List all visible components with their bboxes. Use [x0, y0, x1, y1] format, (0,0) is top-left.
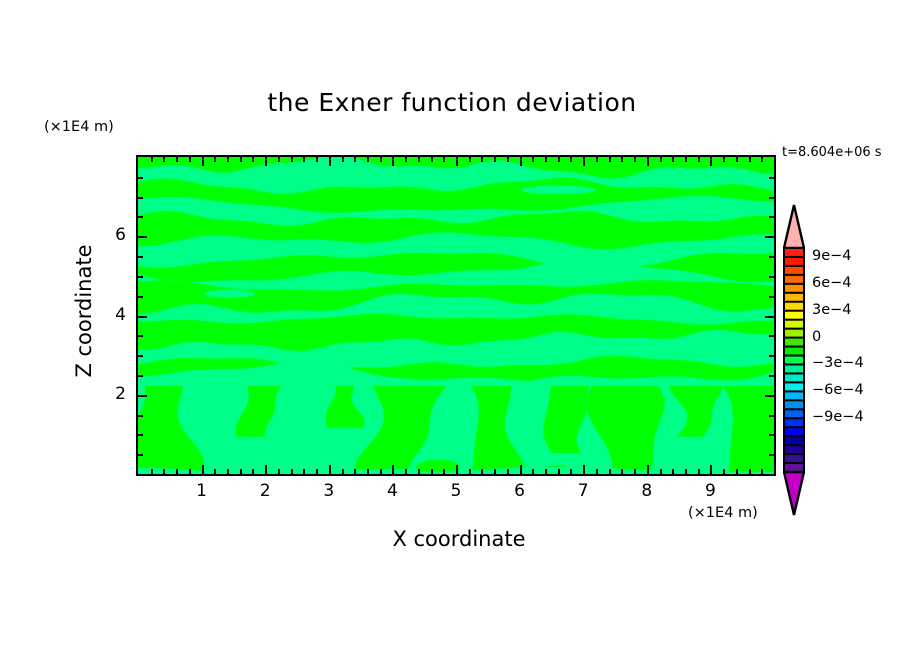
x-minor-tick-bottom [443, 469, 445, 474]
page-title: the Exner function deviation [0, 88, 904, 117]
colorbar-band [784, 302, 804, 311]
y-minor-tick-right [769, 454, 774, 456]
simulation-time-label: t=8.604e+06 s [782, 145, 882, 160]
y-minor-tick-left [138, 415, 143, 417]
x-minor-tick-top [545, 157, 547, 162]
y-axis-unit-label: (×1E4 m) [44, 119, 114, 135]
colorbar-band [784, 454, 804, 463]
x-minor-tick-top [418, 157, 420, 162]
x-minor-tick-top [570, 157, 572, 162]
x-tick-label: 8 [635, 481, 659, 501]
x-minor-tick-top [494, 157, 496, 162]
y-minor-tick-left [138, 276, 143, 278]
colorbar-over-arrow [784, 205, 804, 248]
y-minor-tick-right [769, 256, 774, 258]
colorbar-tick-label: 0 [812, 329, 821, 345]
x-minor-tick-bottom [418, 469, 420, 474]
x-minor-tick-top [532, 157, 534, 162]
x-minor-tick-top [481, 157, 483, 162]
colorbar-band [784, 275, 804, 284]
y-minor-tick-left [138, 434, 143, 436]
y-tick-label: 2 [104, 384, 126, 404]
colorbar-band [784, 248, 804, 257]
x-minor-tick-bottom [354, 469, 356, 474]
x-minor-tick-top [469, 157, 471, 162]
colorbar-band [784, 284, 804, 293]
x-major-tick-bottom [583, 465, 585, 474]
x-minor-tick-top [507, 157, 509, 162]
y-minor-tick-right [769, 216, 774, 218]
y-minor-tick-left [138, 375, 143, 377]
x-minor-tick-top [621, 157, 623, 162]
x-minor-tick-top [609, 157, 611, 162]
y-minor-tick-right [769, 375, 774, 377]
colorbar-band [784, 391, 804, 400]
x-minor-tick-bottom [736, 469, 738, 474]
y-minor-tick-right [769, 197, 774, 199]
colorbar-tick-label: −3e−4 [812, 355, 864, 371]
x-minor-tick-bottom [634, 469, 636, 474]
x-tick-label: 4 [380, 481, 404, 501]
colorbar-band [784, 266, 804, 275]
x-major-tick-top [520, 157, 522, 166]
x-minor-tick-top [367, 157, 369, 162]
y-major-tick-right [765, 316, 774, 318]
x-minor-tick-top [354, 157, 356, 162]
x-minor-tick-bottom [494, 469, 496, 474]
x-minor-tick-top [316, 157, 318, 162]
colorbar-band [784, 347, 804, 356]
x-minor-tick-bottom [596, 469, 598, 474]
x-minor-tick-top [303, 157, 305, 162]
x-minor-tick-bottom [380, 469, 382, 474]
y-major-tick-right [765, 395, 774, 397]
y-minor-tick-right [769, 434, 774, 436]
colorbar-band [784, 356, 804, 365]
x-minor-tick-bottom [405, 469, 407, 474]
x-minor-tick-bottom [431, 469, 433, 474]
colorbar-band [784, 373, 804, 382]
colorbar-tick-label: 3e−4 [812, 302, 852, 318]
x-minor-tick-bottom [532, 469, 534, 474]
colorbar-band [784, 418, 804, 427]
x-minor-tick-bottom [189, 469, 191, 474]
y-minor-tick-left [138, 197, 143, 199]
y-major-tick-left [138, 316, 147, 318]
x-tick-label: 3 [317, 481, 341, 501]
x-minor-tick-bottom [469, 469, 471, 474]
colorbar-tick-label: 6e−4 [812, 275, 852, 291]
x-minor-tick-top [291, 157, 293, 162]
colorbar-band [784, 320, 804, 329]
y-major-tick-left [138, 236, 147, 238]
colorbar-band [784, 382, 804, 391]
y-minor-tick-right [769, 415, 774, 417]
y-axis-title: Z coordinate [72, 211, 96, 411]
x-major-tick-bottom [392, 465, 394, 474]
x-minor-tick-top [380, 157, 382, 162]
colorbar-tick-label: −6e−4 [812, 382, 864, 398]
y-major-tick-left [138, 395, 147, 397]
x-minor-tick-bottom [609, 469, 611, 474]
x-minor-tick-bottom [672, 469, 674, 474]
y-minor-tick-left [138, 335, 143, 337]
x-minor-tick-bottom [214, 469, 216, 474]
x-major-tick-top [710, 157, 712, 166]
y-major-tick-right [765, 236, 774, 238]
x-major-tick-bottom [710, 465, 712, 474]
x-major-tick-top [456, 157, 458, 166]
x-major-tick-bottom [265, 465, 267, 474]
x-major-tick-top [392, 157, 394, 166]
y-minor-tick-left [138, 216, 143, 218]
y-minor-tick-right [769, 335, 774, 337]
x-minor-tick-top [151, 157, 153, 162]
x-minor-tick-top [596, 157, 598, 162]
x-minor-tick-top [761, 157, 763, 162]
x-minor-tick-top [240, 157, 242, 162]
colorbar-tick-label: −9e−4 [812, 409, 864, 425]
x-minor-tick-top [672, 157, 674, 162]
y-minor-tick-left [138, 355, 143, 357]
x-minor-tick-bottom [685, 469, 687, 474]
y-tick-label: 6 [104, 225, 126, 245]
y-minor-tick-right [769, 177, 774, 179]
x-minor-tick-top [252, 157, 254, 162]
x-minor-tick-bottom [151, 469, 153, 474]
x-minor-tick-bottom [749, 469, 751, 474]
x-major-tick-bottom [202, 465, 204, 474]
colorbar-band [784, 445, 804, 454]
y-tick-label: 4 [104, 305, 126, 325]
x-major-tick-top [202, 157, 204, 166]
contour-plot-area [136, 155, 776, 476]
x-major-tick-bottom [520, 465, 522, 474]
x-minor-tick-top [176, 157, 178, 162]
y-minor-tick-right [769, 276, 774, 278]
y-minor-tick-left [138, 296, 143, 298]
x-minor-tick-top [342, 157, 344, 162]
y-minor-tick-right [769, 355, 774, 357]
x-tick-label: 6 [508, 481, 532, 501]
colorbar [783, 204, 805, 516]
x-minor-tick-bottom [252, 469, 254, 474]
x-axis-unit-label: (×1E4 m) [688, 505, 758, 521]
x-minor-tick-top [405, 157, 407, 162]
x-minor-tick-top [431, 157, 433, 162]
x-minor-tick-bottom [558, 469, 560, 474]
x-tick-label: 1 [190, 481, 214, 501]
x-minor-tick-bottom [278, 469, 280, 474]
colorbar-tick-label: 9e−4 [812, 248, 852, 264]
contour-field-canvas [138, 157, 774, 474]
x-minor-tick-top [227, 157, 229, 162]
x-tick-label: 7 [571, 481, 595, 501]
colorbar-svg [783, 204, 805, 516]
x-major-tick-bottom [329, 465, 331, 474]
x-minor-tick-bottom [660, 469, 662, 474]
x-minor-tick-top [634, 157, 636, 162]
x-minor-tick-top [278, 157, 280, 162]
colorbar-under-arrow [784, 472, 804, 515]
x-tick-label: 2 [253, 481, 277, 501]
colorbar-band [784, 338, 804, 347]
y-minor-tick-left [138, 256, 143, 258]
x-minor-tick-bottom [303, 469, 305, 474]
x-minor-tick-top [736, 157, 738, 162]
x-minor-tick-bottom [316, 469, 318, 474]
x-minor-tick-bottom [723, 469, 725, 474]
x-minor-tick-bottom [545, 469, 547, 474]
colorbar-band [784, 427, 804, 436]
y-minor-tick-left [138, 177, 143, 179]
x-minor-tick-bottom [621, 469, 623, 474]
x-major-tick-top [329, 157, 331, 166]
colorbar-band [784, 329, 804, 338]
x-minor-tick-bottom [291, 469, 293, 474]
x-minor-tick-top [685, 157, 687, 162]
x-minor-tick-bottom [367, 469, 369, 474]
x-minor-tick-bottom [342, 469, 344, 474]
x-axis-title: X coordinate [0, 527, 904, 551]
x-minor-tick-top [723, 157, 725, 162]
colorbar-band [784, 400, 804, 409]
colorbar-band [784, 293, 804, 302]
y-minor-tick-right [769, 296, 774, 298]
x-minor-tick-bottom [698, 469, 700, 474]
x-minor-tick-bottom [481, 469, 483, 474]
x-major-tick-top [647, 157, 649, 166]
x-minor-tick-top [443, 157, 445, 162]
x-minor-tick-bottom [240, 469, 242, 474]
x-major-tick-bottom [456, 465, 458, 474]
x-minor-tick-bottom [507, 469, 509, 474]
x-minor-tick-bottom [570, 469, 572, 474]
x-minor-tick-bottom [761, 469, 763, 474]
x-minor-tick-top [660, 157, 662, 162]
x-minor-tick-top [214, 157, 216, 162]
x-major-tick-bottom [647, 465, 649, 474]
colorbar-band [784, 436, 804, 445]
x-minor-tick-top [558, 157, 560, 162]
colorbar-band [784, 364, 804, 373]
x-minor-tick-bottom [227, 469, 229, 474]
x-tick-label: 9 [698, 481, 722, 501]
colorbar-band [784, 257, 804, 266]
x-minor-tick-top [698, 157, 700, 162]
x-major-tick-top [583, 157, 585, 166]
x-tick-label: 5 [444, 481, 468, 501]
x-minor-tick-top [189, 157, 191, 162]
x-minor-tick-top [749, 157, 751, 162]
x-major-tick-top [265, 157, 267, 166]
x-minor-tick-bottom [176, 469, 178, 474]
y-minor-tick-left [138, 454, 143, 456]
colorbar-band [784, 409, 804, 418]
colorbar-band [784, 311, 804, 320]
x-minor-tick-top [163, 157, 165, 162]
x-minor-tick-bottom [163, 469, 165, 474]
